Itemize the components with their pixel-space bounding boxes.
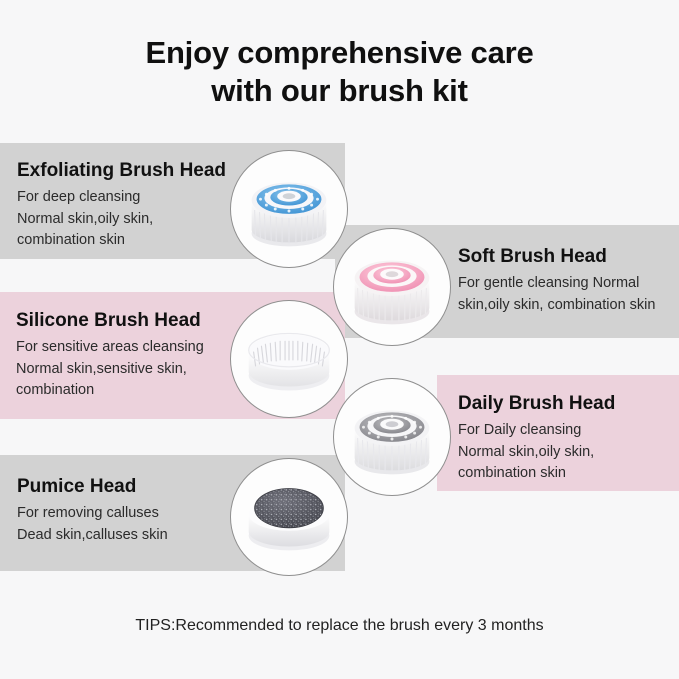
product-desc-line: For sensitive areas cleansing: [16, 337, 204, 359]
pumice-head-image: [230, 458, 348, 576]
product-title-daily: Daily Brush Head: [458, 393, 615, 415]
product-desc-line: Normal skin,oily skin,: [458, 442, 615, 464]
product-desc-line: skin,oily skin, combination skin: [458, 295, 655, 317]
product-title-silicone: Silicone Brush Head: [16, 310, 204, 332]
product-title-soft: Soft Brush Head: [458, 246, 655, 268]
product-desc-line: For Daily cleansing: [458, 420, 615, 442]
page-title-line-2: with our brush kit: [0, 72, 679, 110]
page-title: Enjoy comprehensive care with our brush …: [0, 34, 679, 110]
product-desc-line: combination skin: [17, 230, 226, 252]
product-text-pumice: Pumice Head For removing calluses Dead s…: [17, 476, 168, 546]
product-title-pumice: Pumice Head: [17, 476, 168, 498]
product-desc-line: For deep cleansing: [17, 187, 226, 209]
product-desc-line: For removing calluses: [17, 503, 168, 525]
soft-brush-head-image: [333, 228, 451, 346]
product-desc-line: For gentle cleansing Normal: [458, 273, 655, 295]
product-desc-line: Normal skin,oily skin,: [17, 209, 226, 231]
infographic-canvas: Enjoy comprehensive care with our brush …: [0, 0, 679, 679]
page-title-line-1: Enjoy comprehensive care: [145, 35, 533, 70]
product-title-exfoliating: Exfoliating Brush Head: [17, 160, 226, 182]
product-text-silicone: Silicone Brush Head For sensitive areas …: [16, 310, 204, 402]
product-text-daily: Daily Brush Head For Daily cleansing Nor…: [458, 393, 615, 485]
product-desc-line: combination skin: [458, 463, 615, 485]
silicone-brush-head-image: [230, 300, 348, 418]
product-desc-line: combination: [16, 380, 204, 402]
product-text-soft: Soft Brush Head For gentle cleansing Nor…: [458, 246, 655, 316]
footer-tips: TIPS:Recommended to replace the brush ev…: [0, 617, 679, 635]
product-desc-line: Dead skin,calluses skin: [17, 525, 168, 547]
product-text-exfoliating: Exfoliating Brush Head For deep cleansin…: [17, 160, 226, 252]
daily-brush-head-image: [333, 378, 451, 496]
exfoliating-brush-head-image: [230, 150, 348, 268]
product-desc-line: Normal skin,sensitive skin,: [16, 359, 204, 381]
